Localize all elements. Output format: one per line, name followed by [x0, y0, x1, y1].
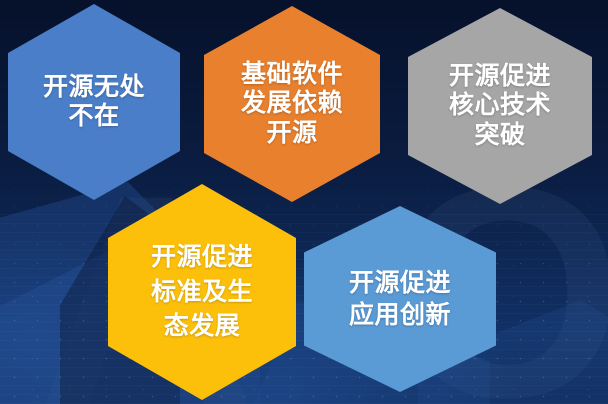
hexagon-standards-ecosystem-label: 开源促进 标准及生 态发展	[145, 240, 259, 344]
hexagon-core-technology-label: 开源促进 核心技术 突破	[443, 62, 557, 151]
hexagon-ubiquity-label: 开源无处 不在	[37, 73, 151, 132]
hexagon-application-innovation-label: 开源促进 应用创新	[343, 267, 457, 332]
infographic-canvas: A O 开源无处 不在 基础软件 发展依赖 开源 开源促进 核心技术 突破 开源…	[0, 0, 608, 404]
hexagon-foundation-label: 基础软件 发展依赖 开源	[235, 60, 349, 149]
